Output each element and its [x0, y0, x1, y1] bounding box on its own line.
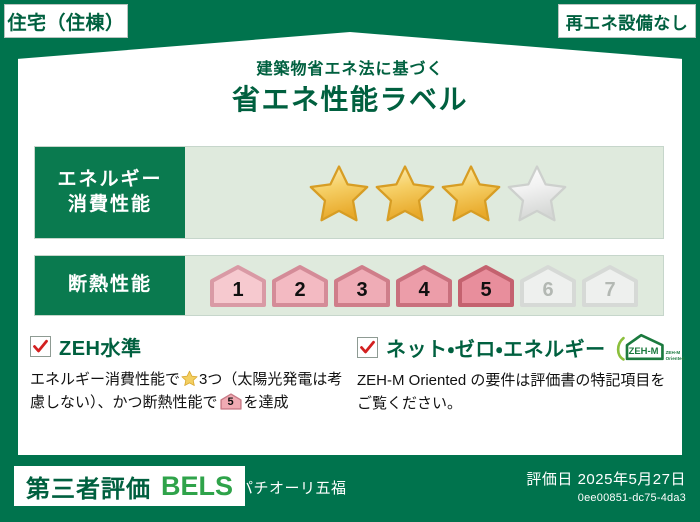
insulation-grade-achieved: 3	[333, 264, 391, 308]
insulation-grade-achieved: 2	[271, 264, 329, 308]
title-main: 省エネ性能ラベル	[18, 81, 682, 119]
star-empty-icon	[506, 163, 568, 223]
insulation-grade-achieved: 5	[457, 264, 515, 308]
net-zero-checkbox	[357, 337, 378, 358]
net-zero-note-title: ネット・ゼロ・エネルギー	[386, 333, 606, 362]
energy-performance-label: エネルギー 消費性能	[35, 147, 185, 238]
zeh-checkbox	[30, 336, 51, 357]
star-filled-icon	[374, 163, 436, 223]
net-zero-note-header: ネット・ゼロ・エネルギー ZEH-M ZEH-M Oriented	[357, 332, 670, 362]
insulation-grade-scale: 1234567	[185, 256, 663, 315]
page-title: 建築物省エネ法に基づく 省エネ性能ラベル	[18, 60, 682, 119]
insulation-grade-achieved: 4	[395, 264, 453, 308]
insulation-grade-value: 5	[480, 280, 491, 308]
insulation-performance-row: 断熱性能 1234567	[34, 255, 664, 316]
insulation-grade-value: 1	[232, 280, 243, 308]
zeh-note-text-c: を達成	[244, 394, 289, 411]
star-filled-icon	[308, 163, 370, 223]
star-filled-icon	[440, 163, 502, 223]
building-type-tag-label: 住宅（住棟）	[7, 8, 124, 35]
property-name: パチオーリ五福	[238, 477, 347, 498]
insulation-grade-achieved: 1	[209, 264, 267, 308]
insulation-performance-label: 断熱性能	[35, 256, 185, 315]
check-icon	[32, 338, 49, 355]
zeh-note: ZEH水準 エネルギー消費性能で 3つ（太陽光発電は考慮しない）、かつ断熱性能で…	[30, 332, 343, 416]
energy-star-rating	[185, 147, 663, 238]
energy-performance-label: 住宅（住棟） 再エネ設備なし 建築物省エネ法に基づく 省エネ性能ラベル エネルギ…	[0, 0, 700, 522]
net-zero-note: ネット・ゼロ・エネルギー ZEH-M ZEH-M Oriented ZEH	[357, 332, 670, 416]
bels-badge: 第三者評価 BELS	[14, 466, 245, 506]
insulation-grade-empty: 6	[519, 264, 577, 308]
zeh-note-header: ZEH水準	[30, 332, 343, 361]
energy-performance-row: エネルギー 消費性能	[34, 146, 664, 239]
insulation-grade-value: 7	[604, 280, 615, 308]
notes-section: ZEH水準 エネルギー消費性能で 3つ（太陽光発電は考慮しない）、かつ断熱性能で…	[30, 332, 670, 416]
zeh-m-logo-caption-line2: Oriented	[666, 356, 685, 361]
insulation-grade-value: 2	[294, 280, 305, 308]
footer: 第三者評価 BELS パチオーリ五福 評価日 2025年5月27日 0ee008…	[0, 456, 700, 522]
energy-performance-label-line1: エネルギー	[57, 168, 162, 192]
check-icon	[359, 339, 376, 356]
insulation-performance-label-text: 断熱性能	[68, 273, 152, 297]
label-content: 建築物省エネ法に基づく 省エネ性能ラベル エネルギー 消費性能 断熱性能 123…	[18, 32, 682, 455]
zeh-note-text-a: エネルギー消費性能で	[30, 371, 180, 388]
insulation-grade-value: 4	[418, 280, 429, 308]
zeh-m-logo-caption-line1: ZEH-M	[666, 350, 681, 355]
bels-badge-title: 第三者評価	[26, 469, 151, 504]
zeh-m-logo-caption: ZEH-M Oriented	[666, 350, 692, 361]
zeh-note-body: エネルギー消費性能で 3つ（太陽光発電は考慮しない）、かつ断熱性能で 5 を達成	[30, 368, 343, 415]
title-subtitle: 建築物省エネ法に基づく	[18, 60, 682, 79]
evaluation-info: 評価日 2025年5月27日 0ee00851-dc75-4da3	[526, 468, 686, 504]
zeh-m-logo-icon: ZEH-M ZEH-M Oriented	[614, 332, 666, 362]
energy-performance-label-line2: 消費性能	[68, 193, 152, 217]
zeh-note-title: ZEH水準	[59, 332, 142, 361]
inline-grade-badge: 5	[220, 393, 242, 410]
renewable-equipment-tag: 再エネ設備なし	[558, 4, 696, 38]
insulation-grade-empty: 7	[581, 264, 639, 308]
building-type-tag: 住宅（住棟）	[4, 4, 128, 38]
inline-star-icon	[181, 370, 198, 387]
insulation-grade-value: 6	[542, 280, 553, 308]
net-zero-note-body: ZEH-M Oriented の要件は評価書の特記項目をご覧ください。	[357, 369, 670, 416]
bels-badge-mark: BELS	[161, 471, 233, 502]
svg-text:ZEH-M: ZEH-M	[628, 346, 658, 357]
evaluation-id: 0ee00851-dc75-4da3	[526, 492, 686, 504]
insulation-grade-value: 3	[356, 280, 367, 308]
inline-grade-badge-value: 5	[220, 393, 242, 410]
renewable-equipment-tag-label: 再エネ設備なし	[566, 9, 689, 34]
evaluation-date: 評価日 2025年5月27日	[526, 468, 686, 489]
